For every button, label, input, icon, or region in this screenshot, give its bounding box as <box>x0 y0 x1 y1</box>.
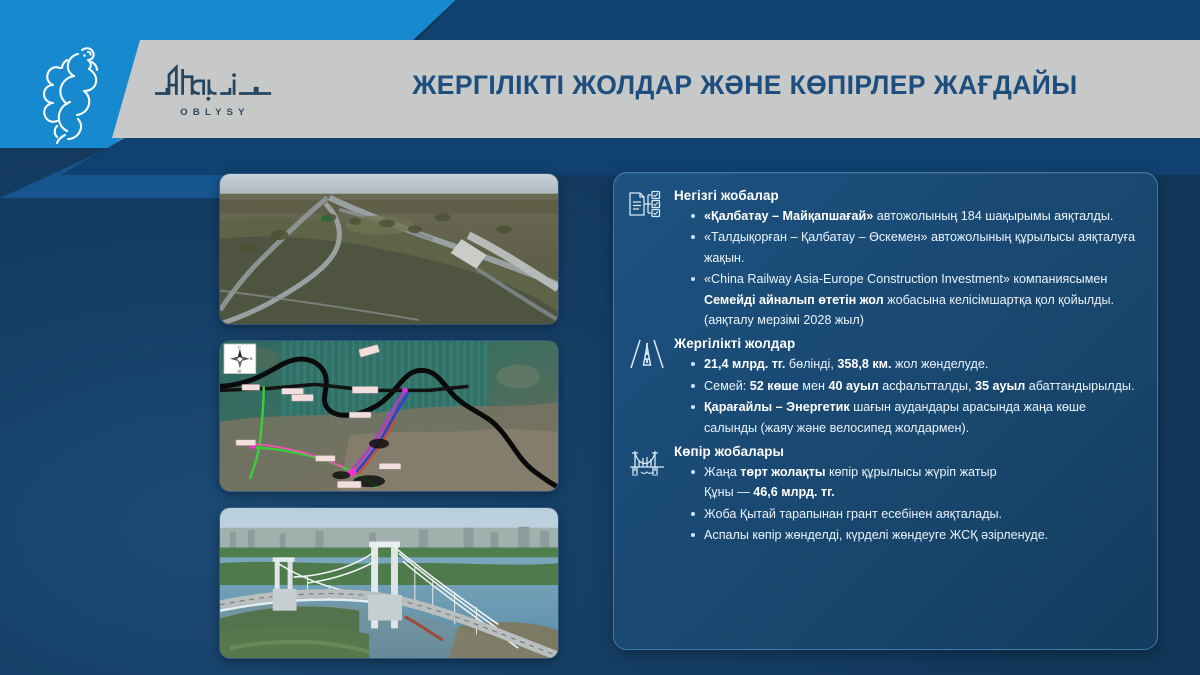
section-heading: Негізгі жобалар <box>674 188 1141 203</box>
photo-column: С В Ю <box>219 173 559 674</box>
bullet-list: 21,4 млрд. тг. бөлінді, 358,8 км. жол жө… <box>688 354 1141 438</box>
bullet-list: «Қалбатау – Майқапшағай» автожолының 184… <box>688 206 1141 330</box>
bullet-item: Семей: 52 көше мен 40 ауыл асфальтталды,… <box>688 376 1141 396</box>
content-panel: Негізгі жобалар «Қалбатау – Майқапшағай»… <box>613 172 1158 650</box>
page-title: ЖЕРГІЛІКТІ ЖОЛДАР ЖӘНЕ КӨПІРЛЕР ЖАҒДАЙЫ <box>330 70 1160 101</box>
compass-rose-icon: С В Ю <box>224 344 256 374</box>
bullet-item: «China Railway Asia-Europe Construction … <box>688 269 1141 330</box>
section-body: Жергілікті жолдар 21,4 млрд. тг. бөлінді… <box>674 335 1141 439</box>
svg-text:Ю: Ю <box>238 370 242 374</box>
bullet-item: Жаңа төрт жолақты көпір құрылысы жүріп ж… <box>688 462 1141 503</box>
section-local-roads: Жергілікті жолдар 21,4 млрд. тг. бөлінді… <box>628 335 1141 439</box>
svg-text:С: С <box>238 345 241 349</box>
bullet-item: «Талдықорған – Қалбатау – Өскемен» автож… <box>688 227 1141 268</box>
section-body: Көпір жобалары Жаңа төрт жолақты көпір қ… <box>674 443 1141 547</box>
section-heading: Көпір жобалары <box>674 444 1141 459</box>
bullet-list: Жаңа төрт жолақты көпір құрылысы жүріп ж… <box>688 462 1141 546</box>
snow-leopard-emblem-icon <box>26 38 114 146</box>
bullet-item: «Қалбатау – Майқапшағай» автожолының 184… <box>688 206 1141 226</box>
bullet-item: Аспалы көпір жөнделді, күрделі жөндеуге … <box>688 525 1141 545</box>
suspension-bridge-icon <box>628 443 674 481</box>
highway-interchange-aerial-photo <box>219 173 559 325</box>
abai-oblysy-logo: OBLYSY <box>148 62 278 118</box>
section-main-projects: Негізгі жобалар «Қалбатау – Майқапшағай»… <box>628 187 1141 331</box>
abai-wordmark-icon <box>148 62 278 104</box>
sub-bullet-item: Жоба Қытай тарапынан грант есебінен аяқт… <box>688 504 1141 524</box>
route-satellite-map-photo: С В Ю <box>219 340 559 492</box>
bullet-item: 21,4 млрд. тг. бөлінді, 358,8 км. жол жө… <box>688 354 1141 374</box>
document-checklist-icon <box>628 187 674 225</box>
highway-road-icon <box>628 335 674 373</box>
section-heading: Жергілікті жолдар <box>674 336 1141 351</box>
abai-logo-subtitle: OBLYSY <box>148 107 278 118</box>
section-bridge-projects: Көпір жобалары Жаңа төрт жолақты көпір қ… <box>628 443 1141 547</box>
bullet-item: Қарағайлы – Энергетик шағын аудандары ар… <box>688 397 1141 438</box>
section-body: Негізгі жобалар «Қалбатау – Майқапшағай»… <box>674 187 1141 331</box>
suspension-bridge-aerial-photo <box>219 507 559 659</box>
